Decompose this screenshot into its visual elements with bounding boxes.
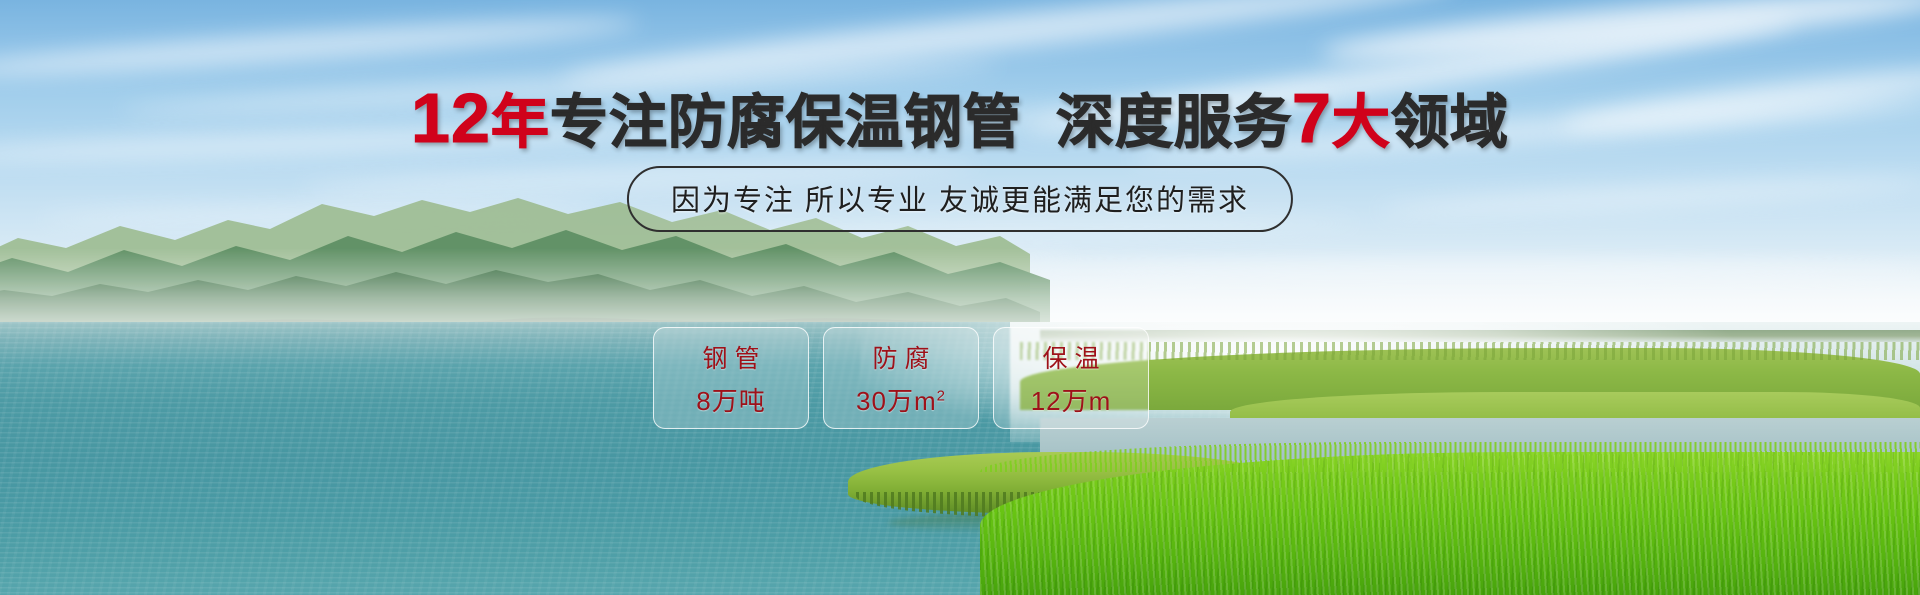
stat-card-label: 保温 (1035, 339, 1106, 375)
banner-subtitle-pill: 因为专注 所以专业 友诚更能满足您的需求 (627, 166, 1293, 232)
cloud-streak-icon (1320, 0, 1920, 72)
headline-focus-segment: 专注防腐保温钢管 (550, 90, 1022, 155)
stat-value-superscript: 2 (937, 387, 946, 404)
stat-value-text: 12万m (1031, 386, 1112, 416)
distant-shoreline (1040, 330, 1920, 342)
stat-card-value: 12万m (1031, 381, 1112, 418)
headline-fields-number: 7 (1292, 79, 1332, 157)
stat-card-insulation[interactable]: 保温 12万m (993, 327, 1149, 429)
stat-card-value: 30万m2 (856, 381, 946, 418)
headline-years-unit: 年 (491, 90, 550, 155)
stat-card-anticorrosion[interactable]: 防腐 30万m2 (823, 327, 979, 429)
banner-headline: 12年专注防腐保温钢管深度服务7大领域 (0, 82, 1920, 156)
cloud-streak-icon (0, 10, 640, 85)
hero-banner: 12年专注防腐保温钢管深度服务7大领域 因为专注 所以专业 友诚更能满足您的需求… (0, 0, 1920, 595)
stat-card-value: 8万吨 (696, 381, 765, 418)
stat-card-group: 钢管 8万吨 防腐 30万m2 保温 12万m (653, 327, 1149, 429)
stat-value-text: 30万m (856, 386, 937, 416)
headline-fields-unit: 大 (1332, 90, 1391, 155)
headline-fields-segment: 领域 (1391, 90, 1509, 155)
stat-card-steel-pipe[interactable]: 钢管 8万吨 (653, 327, 809, 429)
stat-card-label: 防腐 (865, 339, 936, 375)
headline-service-segment: 深度服务 (1056, 90, 1292, 155)
stat-value-text: 8万吨 (696, 386, 765, 416)
cloud-streak-icon (1000, 262, 1920, 280)
headline-years-number: 12 (411, 79, 491, 157)
marsh-tufts (1020, 342, 1920, 360)
stat-card-label: 钢管 (695, 339, 766, 375)
cloud-streak-icon (1380, 171, 1920, 220)
